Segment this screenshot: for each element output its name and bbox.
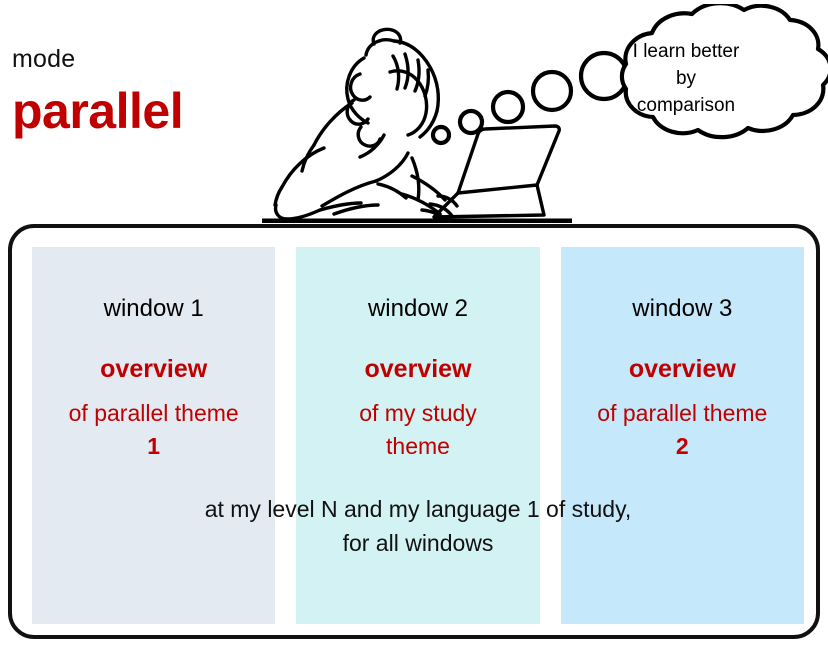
window-1-subtitle: of parallel theme 1	[32, 397, 275, 463]
windows-panel-group: window 1 overview of parallel theme 1 wi…	[32, 247, 804, 624]
window-1-title: window 1	[32, 295, 275, 323]
window-3-heading: overview	[561, 355, 804, 384]
window-panel-1[interactable]: window 1 overview of parallel theme 1	[32, 247, 275, 624]
thought-bubble-line-2: by	[588, 65, 784, 92]
mode-value: parallel	[12, 82, 183, 140]
window-2-heading: overview	[296, 355, 539, 384]
window-1-subtitle-line-2: 1	[147, 433, 160, 459]
window-1-subtitle-line-1: of parallel theme	[69, 400, 239, 426]
window-2-subtitle: of my study theme	[296, 397, 539, 463]
window-1-heading: overview	[32, 355, 275, 384]
window-3-subtitle-line-2: 2	[676, 433, 689, 459]
windows-frame: window 1 overview of parallel theme 1 wi…	[8, 224, 820, 639]
window-2-subtitle-line-2: theme	[386, 433, 450, 459]
window-3-subtitle-line-1: of parallel theme	[597, 400, 767, 426]
window-panel-2[interactable]: window 2 overview of my study theme	[296, 247, 539, 624]
mode-label: mode	[12, 45, 75, 74]
windows-caption-line-2: for all windows	[32, 526, 804, 560]
window-3-subtitle: of parallel theme 2	[561, 397, 804, 463]
windows-caption: at my level N and my language 1 of study…	[32, 492, 804, 560]
window-2-subtitle-line-1: of my study	[359, 400, 477, 426]
thought-bubble-line-1: I learn better	[588, 38, 784, 65]
thought-bubble-line-3: comparison	[588, 92, 784, 119]
window-3-title: window 3	[561, 295, 804, 323]
windows-caption-line-1: at my level N and my language 1 of study…	[32, 492, 804, 526]
window-panel-3[interactable]: window 3 overview of parallel theme 2	[561, 247, 804, 624]
slide-canvas: mode parallel	[0, 0, 828, 645]
window-2-title: window 2	[296, 295, 539, 323]
thought-bubble-text: I learn better by comparison	[588, 38, 784, 119]
